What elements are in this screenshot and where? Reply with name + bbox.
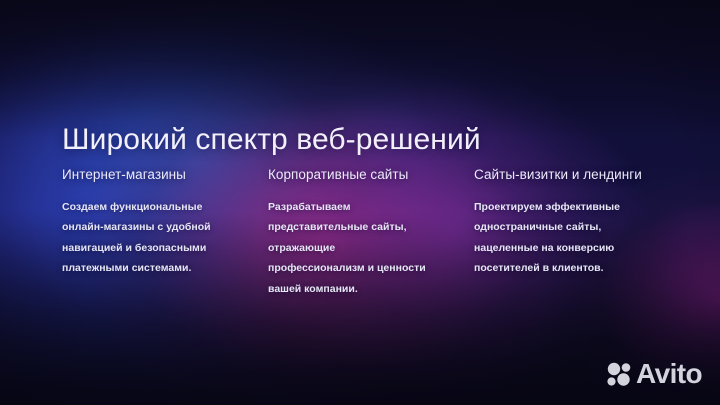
avito-logo: Avito [606, 360, 702, 388]
service-heading: Корпоративные сайты [268, 166, 428, 184]
avito-dots-icon [606, 361, 632, 387]
page-title: Широкий спектр веб-решений [62, 123, 481, 157]
service-description: Создаем функциональные онлайн-магазины с… [62, 197, 222, 279]
service-column-corporate-sites: Корпоративные сайты Разрабатываем предст… [268, 166, 428, 299]
service-columns: Интернет-магазины Создаем функциональные… [62, 166, 662, 299]
service-column-landing-pages: Сайты-визитки и лендинги Проектируем эфф… [474, 166, 646, 299]
service-description: Разрабатываем представительные сайты, от… [268, 197, 428, 299]
service-description: Проектируем эффективные одностраничные с… [474, 197, 646, 279]
slide-content: Широкий спектр веб-решений Интернет-мага… [0, 0, 720, 405]
service-column-online-stores: Интернет-магазины Создаем функциональные… [62, 166, 222, 299]
service-heading: Интернет-магазины [62, 166, 222, 184]
service-heading: Сайты-визитки и лендинги [474, 166, 646, 184]
slide-canvas: Широкий спектр веб-решений Интернет-мага… [0, 0, 720, 405]
avito-wordmark: Avito [636, 360, 702, 388]
